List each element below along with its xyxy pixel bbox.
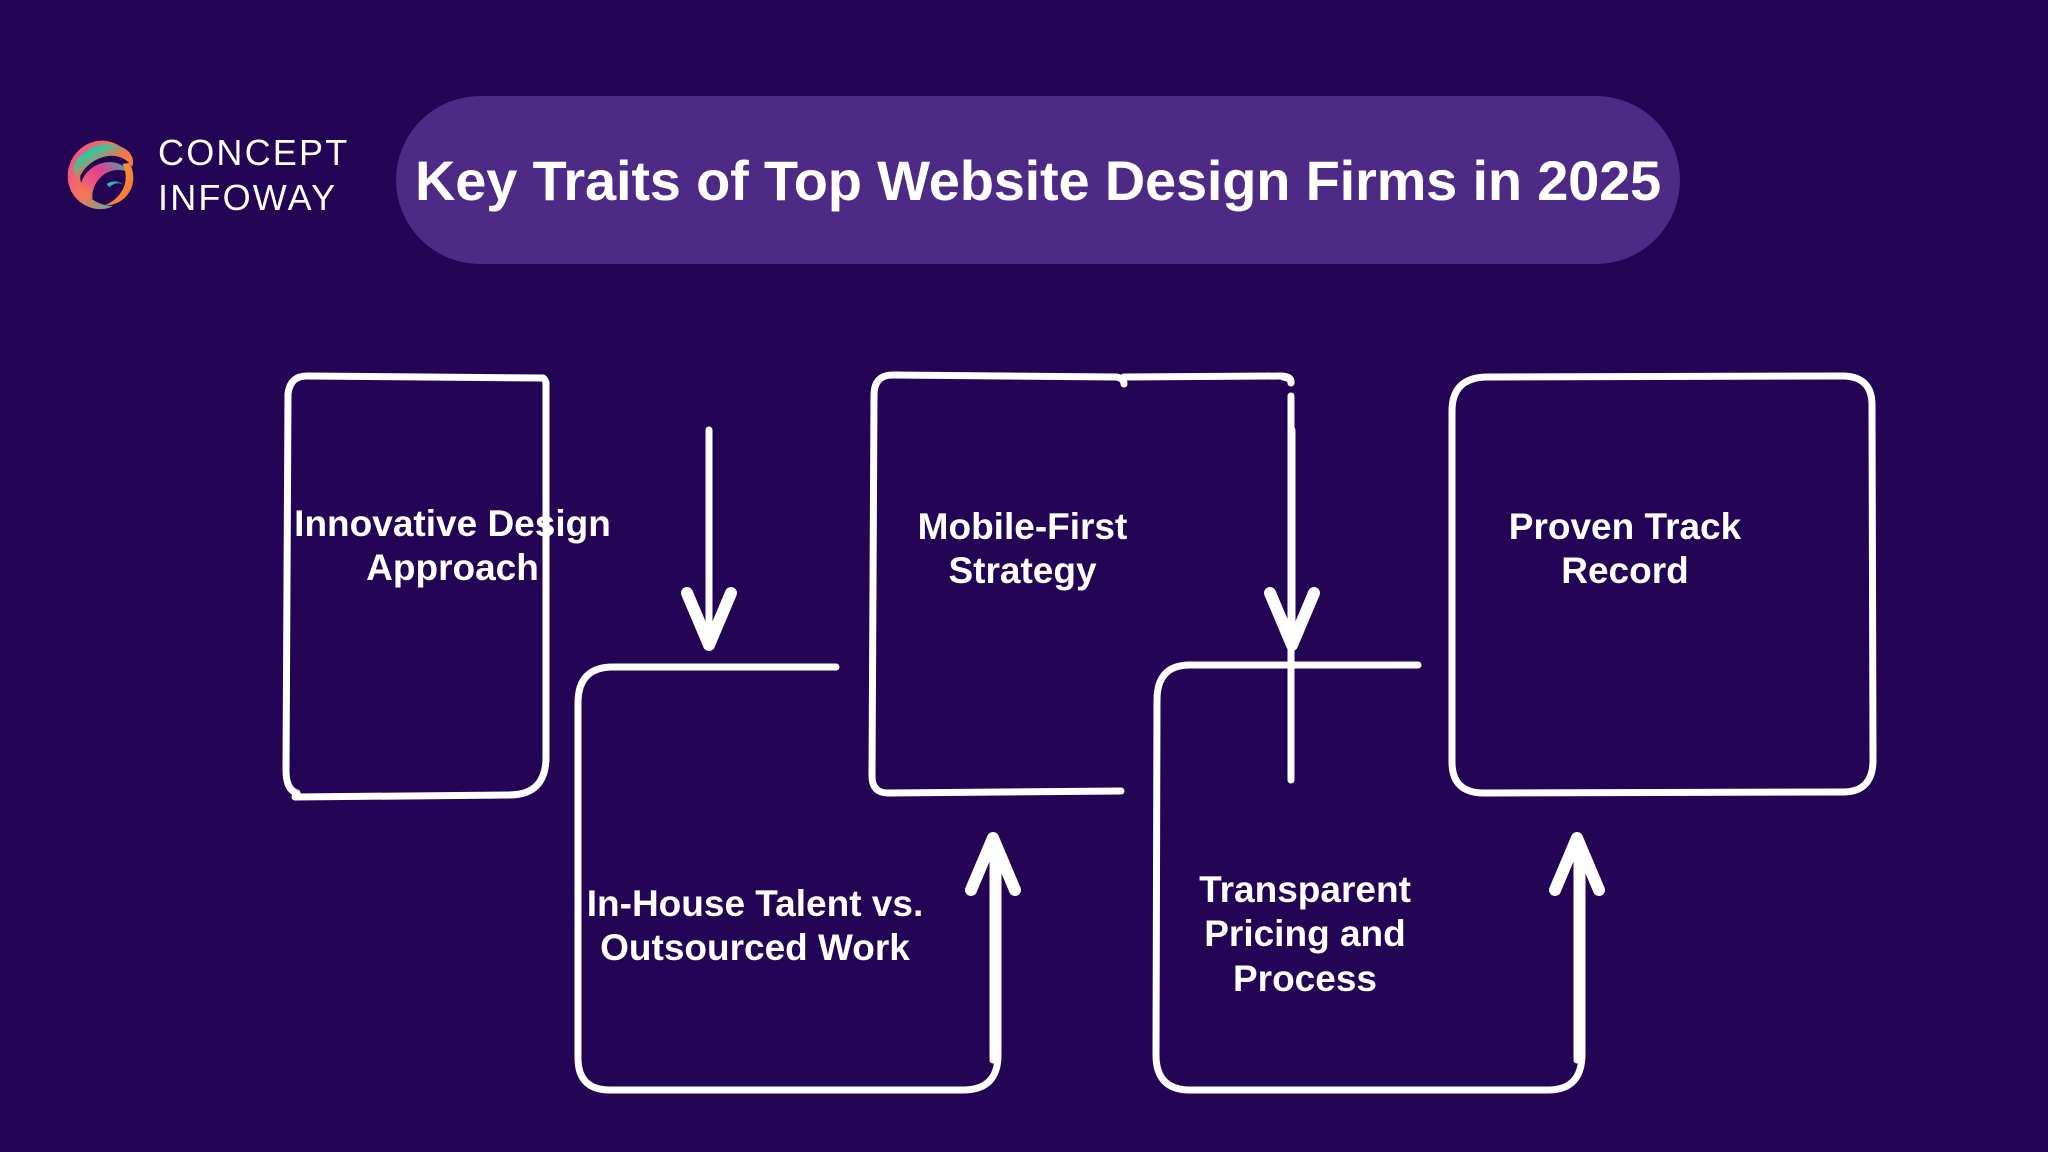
page-title: Key Traits of Top Website Design Firms i… xyxy=(415,148,1661,213)
infographic-canvas: CONCEPT INFOWAY Key Traits of Top Websit… xyxy=(0,0,2048,1152)
card-label-innovative-design-approach: Innovative Design Approach xyxy=(280,502,625,591)
connector-arrow-down-2 xyxy=(1270,430,1314,645)
card-label-proven-track-record: Proven Track Record xyxy=(1450,505,1800,594)
connector-arrow-down-1 xyxy=(687,430,731,645)
connector-arrow-up-1 xyxy=(971,838,1015,1060)
concept-infoway-swirl-logo-icon xyxy=(58,132,144,218)
card-label-transparent-pricing-and-process: Transparent Pricing and Process xyxy=(1155,868,1455,1001)
brand-name-line1: CONCEPT xyxy=(158,135,349,171)
brand-name-line2: INFOWAY xyxy=(158,180,349,216)
title-banner: Key Traits of Top Website Design Firms i… xyxy=(396,96,1680,264)
card-label-mobile-first-strategy: Mobile-First Strategy xyxy=(865,505,1180,594)
brand-wordmark: CONCEPT INFOWAY xyxy=(158,135,349,216)
card-label-in-house-talent-vs-outsourced-work: In-House Talent vs. Outsourced Work xyxy=(570,882,940,971)
brand-logo[interactable]: CONCEPT INFOWAY xyxy=(58,132,349,218)
connector-arrow-up-2 xyxy=(1555,838,1599,1060)
card-border-in-house-talent xyxy=(578,667,998,1090)
